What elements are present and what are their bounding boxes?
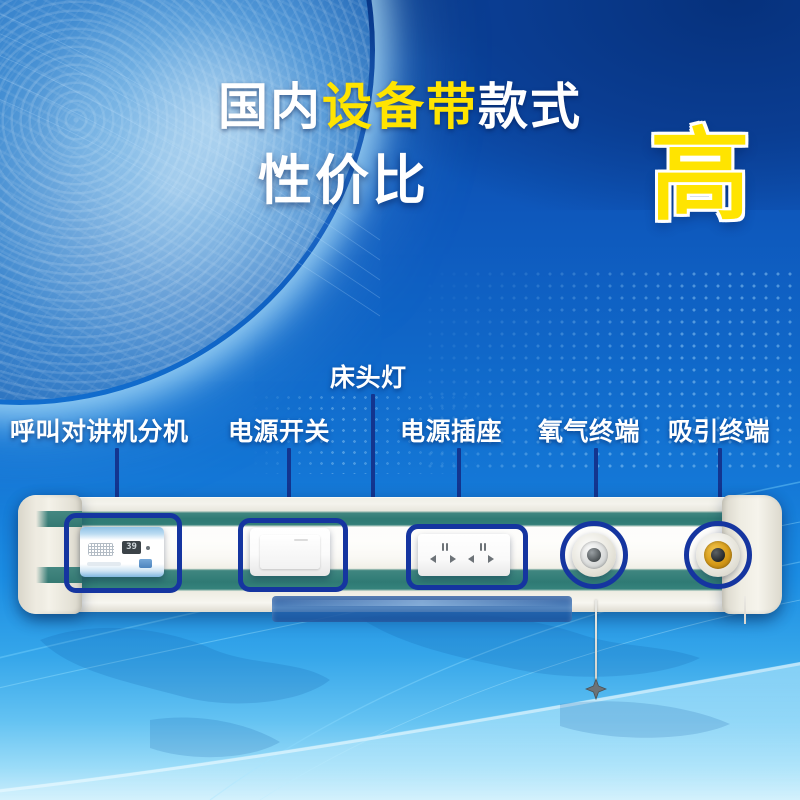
pull-cord[interactable] — [595, 600, 597, 682]
panel-rail-highlight — [282, 600, 562, 606]
highlight-box-intercom — [64, 513, 182, 593]
callout-label-suction-terminal: 吸引终端 — [668, 412, 770, 448]
callout-label-power-switch: 电源开关 — [228, 412, 330, 448]
world-map-watermark — [0, 600, 800, 800]
headline-block: 国内设备带款式 性价比 高 — [0, 82, 800, 132]
callout-label-oxygen-terminal: 氧气终端 — [538, 412, 640, 448]
secondary-cord — [744, 596, 746, 624]
headline-part-2: 设备带 — [322, 78, 478, 136]
panel-left-end-face — [18, 495, 48, 614]
headline-emphasis: 高 — [650, 126, 750, 226]
headline-part-3: 款式 — [478, 78, 582, 136]
headline-part-1: 国内 — [218, 78, 322, 136]
callout-label-power-socket: 电源插座 — [400, 412, 502, 448]
highlight-circle-suction — [684, 521, 752, 589]
highlight-box-power-socket — [406, 524, 528, 590]
pull-cord-connector-icon — [585, 678, 607, 700]
poster-stage: 国内设备带款式 性价比 高 呼叫对讲机分机 电源开关 床头灯 电源插座 氧气终端… — [0, 0, 800, 800]
highlight-box-power-switch — [238, 518, 348, 592]
highlight-circle-oxygen — [560, 521, 628, 589]
callout-label-intercom: 呼叫对讲机分机 — [10, 412, 189, 448]
callout-label-bed-lamp: 床头灯 — [330, 358, 407, 394]
headline-subtitle: 性价比 — [258, 154, 429, 208]
